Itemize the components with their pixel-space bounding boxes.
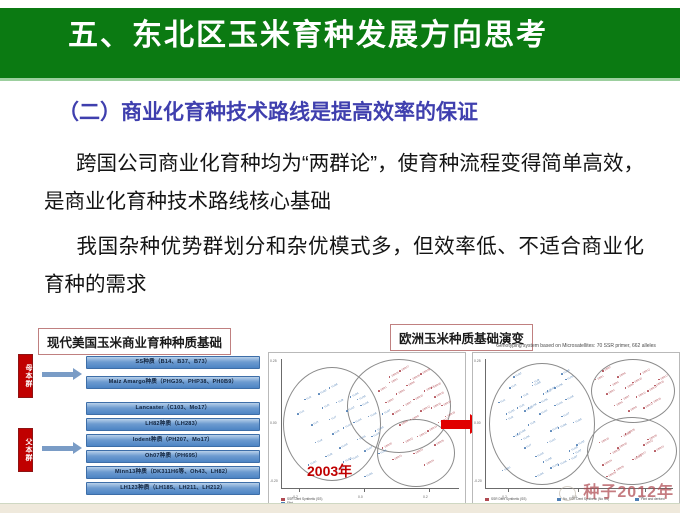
scatter-point bbox=[524, 447, 526, 449]
scatter-point bbox=[506, 413, 508, 415]
scatter-point bbox=[547, 390, 549, 392]
y-tick-label: 0.25 bbox=[474, 359, 481, 363]
paragraph-2: 我国杂种优势群划分和杂优模式多，但效率低、不适合商业化育种的需求 bbox=[44, 228, 644, 304]
scatter-point bbox=[602, 464, 604, 466]
y-tick-label: 0.25 bbox=[270, 359, 277, 363]
scatter-point bbox=[554, 387, 556, 389]
x-axis bbox=[281, 488, 459, 489]
scatter-point bbox=[614, 405, 616, 407]
scatter-point bbox=[364, 450, 366, 452]
scatter-point bbox=[389, 376, 391, 378]
scatter-point bbox=[382, 413, 384, 415]
scatter-point bbox=[420, 410, 422, 412]
scatter-point bbox=[339, 447, 341, 449]
scatter-point bbox=[554, 405, 556, 407]
scatter-point bbox=[632, 459, 634, 461]
scatter-point bbox=[628, 410, 630, 412]
group-label-female: 母本群 bbox=[18, 354, 33, 398]
y-tick-label: 0.00 bbox=[270, 421, 277, 425]
blue-arrow-icon bbox=[42, 446, 74, 451]
right-figure: 欧洲玉米种质基础演变 0.25 0.00 -0.20 -0.2 0.0 0.2 … bbox=[266, 322, 680, 512]
cluster-ellipse bbox=[489, 363, 595, 485]
scatter-point bbox=[434, 444, 436, 446]
germplasm-bar: LH82种质（LH283） bbox=[86, 418, 260, 431]
scatter-point bbox=[521, 396, 523, 398]
x-tick bbox=[578, 489, 579, 492]
scatter-point bbox=[550, 467, 552, 469]
scatter-point bbox=[617, 447, 619, 449]
scatter-point bbox=[643, 407, 645, 409]
page-title: 五、东北区玉米育种发展方向思考 bbox=[68, 18, 548, 54]
scatter-plot-2003: 0.25 0.00 -0.20 -0.2 0.0 0.2 FLI1FLI2FLI… bbox=[268, 352, 466, 506]
figures-area: 现代美国玉米商业育种种质基础 母本群 父本群 SS种质（B14、B37、B73）… bbox=[0, 322, 680, 508]
scatter-point bbox=[602, 370, 604, 372]
legend-swatch bbox=[281, 498, 285, 501]
scatter-point bbox=[392, 459, 394, 461]
scatter-point bbox=[318, 393, 320, 395]
scatter-point-label: FLI25 bbox=[366, 471, 373, 477]
blue-arrow-icon bbox=[42, 372, 74, 377]
x-tick bbox=[364, 489, 365, 492]
scatter-point bbox=[427, 430, 429, 432]
watermark-face-icon bbox=[559, 486, 576, 501]
scatter-point bbox=[420, 373, 422, 375]
scatter-point bbox=[550, 430, 552, 432]
slide: 五、东北区玉米育种发展方向思考 （二）商业化育种技术路线是提高效率的保证 跨国公… bbox=[0, 0, 680, 513]
section-subtitle: （二）商业化育种技术路线是提高效率的保证 bbox=[58, 100, 478, 126]
germplasm-bar: LH123种质（LH185、LH211、LH212） bbox=[86, 482, 260, 495]
legend-label: SSR Dent Synthetic (SS) bbox=[491, 497, 526, 501]
scatter-point bbox=[625, 433, 627, 435]
watermark-text: 种子2012年 bbox=[583, 478, 674, 502]
header-divider bbox=[0, 78, 680, 81]
scatter-point bbox=[509, 387, 511, 389]
scatter-point bbox=[606, 476, 608, 478]
scatter-point bbox=[375, 430, 377, 432]
y-tick-label: -0.20 bbox=[270, 479, 278, 483]
scatter-point bbox=[547, 442, 549, 444]
y-axis bbox=[485, 359, 486, 489]
legend-swatch bbox=[485, 498, 489, 501]
left-figure: 现代美国玉米商业育种种质基础 母本群 父本群 SS种质（B14、B37、B73）… bbox=[14, 322, 266, 508]
germplasm-bar: Lancaster（C103、Mo17） bbox=[86, 402, 260, 415]
scatter-point bbox=[640, 373, 642, 375]
cluster-ellipse bbox=[587, 417, 677, 485]
scatter-point bbox=[513, 376, 515, 378]
scatter-point bbox=[647, 390, 649, 392]
germplasm-bar: Oh07种质（PH695） bbox=[86, 450, 260, 463]
scatter-point bbox=[643, 444, 645, 446]
paragraph-1-text: 跨国公司商业化育种均为“两群论”，使育种流程变得简单高效，是商业化育种技术路线核… bbox=[44, 152, 644, 213]
transition-arrow-icon bbox=[441, 420, 471, 429]
paragraph-2-text: 我国杂种优势群划分和杂优模式多，但效率低、不适合商业化育种的需求 bbox=[44, 235, 644, 296]
paragraph-1: 跨国公司商业化育种均为“两群论”，使育种流程变得简单高效，是商业化育种技术路线核… bbox=[44, 145, 644, 221]
x-tick bbox=[299, 489, 300, 492]
scatter-point bbox=[364, 476, 366, 478]
scatter-point bbox=[617, 376, 619, 378]
scatter-point bbox=[606, 393, 608, 395]
scatter-point bbox=[561, 373, 563, 375]
scatter-point bbox=[311, 424, 313, 426]
germplasm-bar: Iodent种质（PH207、Mo17） bbox=[86, 434, 260, 447]
scatter-point bbox=[576, 444, 578, 446]
year-label: 2003年 bbox=[307, 461, 352, 481]
scatter-point bbox=[539, 413, 541, 415]
scatter-point bbox=[502, 470, 504, 472]
scatter-point bbox=[378, 390, 380, 392]
scatter-point bbox=[399, 424, 401, 426]
germplasm-bar: Minn13种质（DK311H6等、Oh43、LH82） bbox=[86, 466, 260, 479]
scatter-point bbox=[399, 370, 401, 372]
scatter-point bbox=[382, 447, 384, 449]
scatter-point bbox=[625, 387, 627, 389]
germplasm-bar: SS种质（B14、B37、B73） bbox=[86, 356, 260, 369]
y-axis bbox=[281, 359, 282, 489]
scatter-point bbox=[297, 413, 299, 415]
scatter-point bbox=[647, 439, 649, 441]
x-tick bbox=[508, 489, 509, 492]
scatter-point bbox=[396, 393, 398, 395]
y-tick-label: 0.00 bbox=[474, 421, 481, 425]
group-label-male: 父本群 bbox=[18, 428, 33, 472]
scatter-point bbox=[346, 410, 348, 412]
y-tick-label: -0.20 bbox=[474, 479, 482, 483]
scatter-point bbox=[392, 413, 394, 415]
scatter-point bbox=[524, 410, 526, 412]
footer-band bbox=[0, 503, 680, 513]
x-tick bbox=[429, 489, 430, 492]
left-figure-caption: 现代美国玉米商业育种种质基础 bbox=[38, 328, 231, 355]
germplasm-bar: Maiz Amargo种质（PHG39、PHP38、PH0B9） bbox=[86, 376, 260, 389]
scatter-point bbox=[332, 433, 334, 435]
plot-caption: Genotyping system based on Microsatellit… bbox=[473, 343, 679, 349]
